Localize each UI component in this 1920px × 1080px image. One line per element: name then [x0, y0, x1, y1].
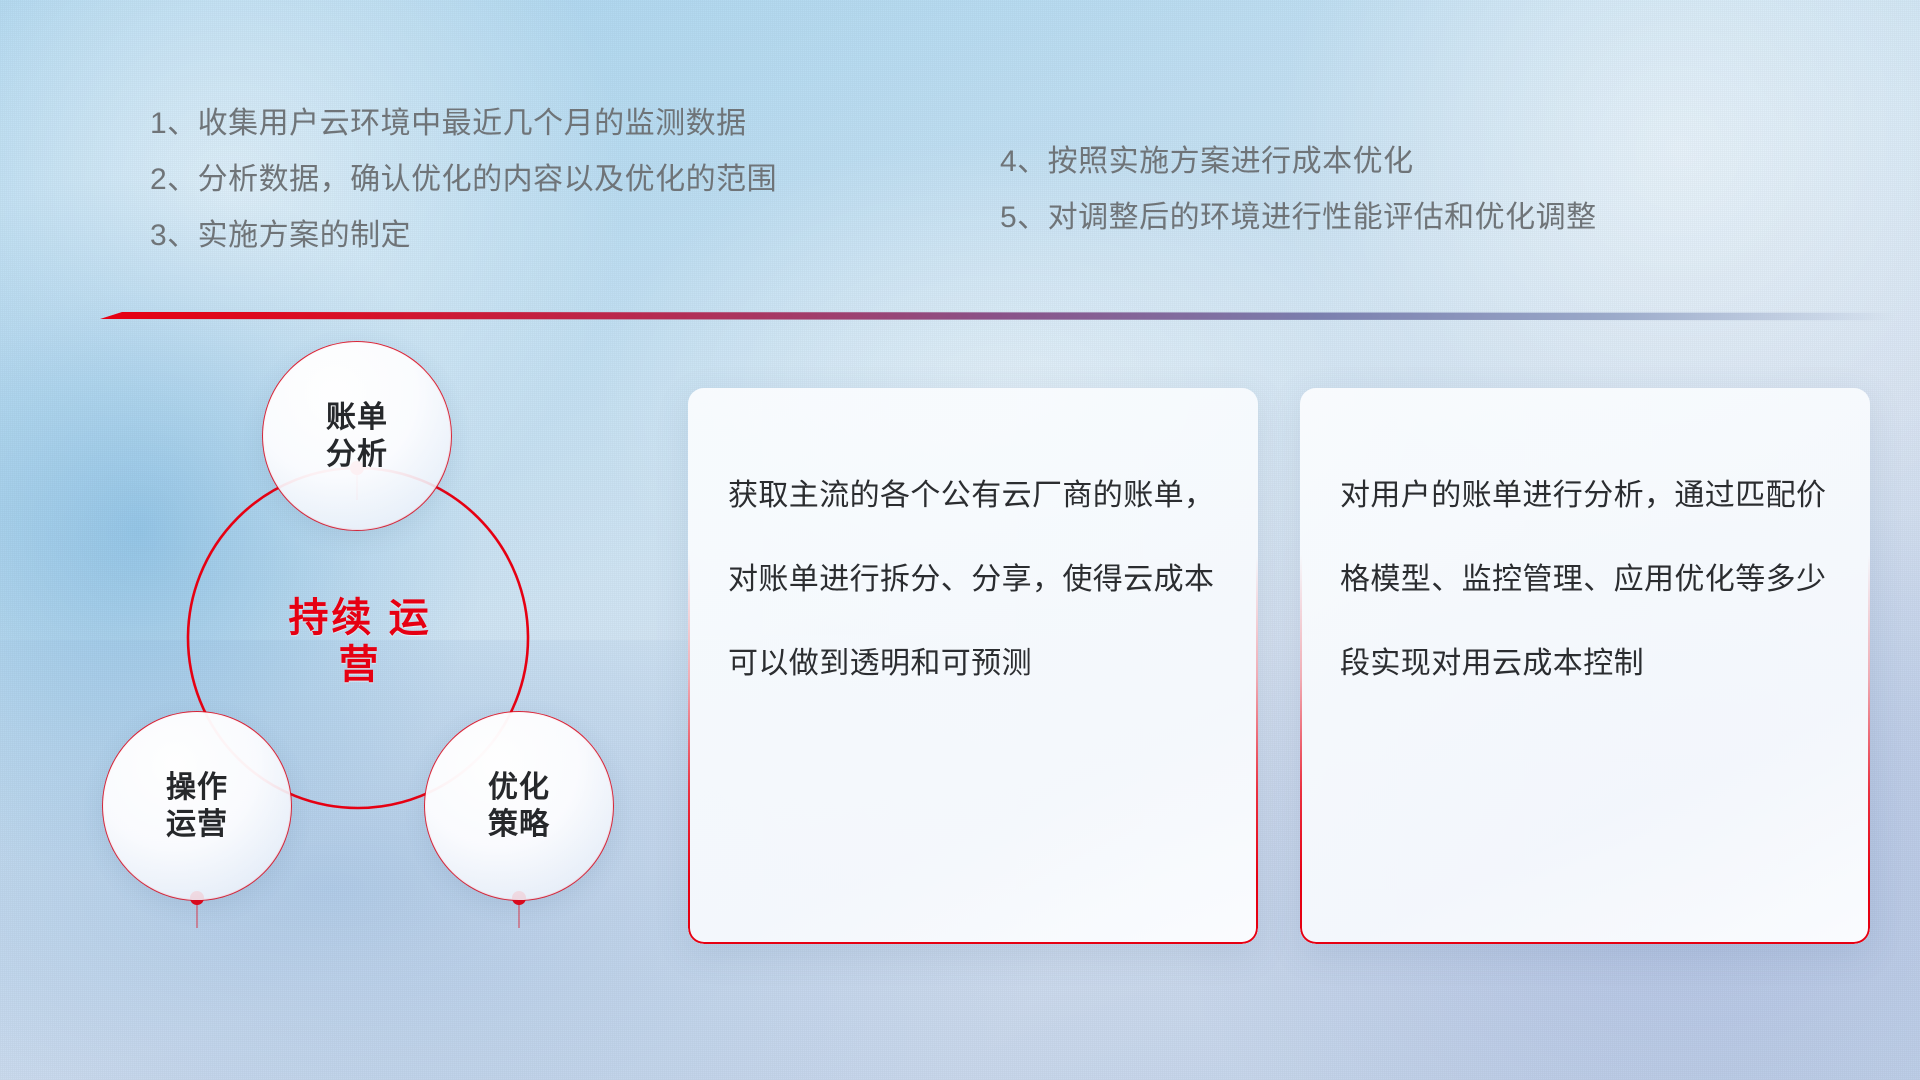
steps-column-left: 1、收集用户云环境中最近几个月的监测数据 2、分析数据，确认优化的内容以及优化的…	[150, 96, 777, 264]
card-2-body-text: 对用户的账单进行分析，通过匹配价格模型、监控管理、应用优化等多少段实现对用云成本…	[1340, 454, 1836, 706]
venn-bubble-billing-analysis[interactable]: 账单 分析	[263, 342, 451, 530]
venn-diagram: 账单 分析 操作 运营 优化 策略 持续 运营	[95, 350, 655, 970]
venn-bubble-right-line2: 策略	[488, 806, 550, 843]
steps-column-right: 4、按照实施方案进行成本优化 5、对调整后的环境进行性能评估和优化调整	[1000, 134, 1597, 246]
steps-section: 1、收集用户云环境中最近几个月的监测数据 2、分析数据，确认优化的内容以及优化的…	[0, 96, 1920, 276]
card-cloud-cost-optimization[interactable]: 对用户的账单进行分析，通过匹配价格模型、监控管理、应用优化等多少段实现对用云成本…	[1300, 388, 1870, 944]
venn-bubble-top-line2: 分析	[326, 436, 388, 473]
step-item-4: 4、按照实施方案进行成本优化	[1000, 134, 1597, 190]
card-multi-cloud-billing-platform[interactable]: 获取主流的各个公有云厂商的账单，对账单进行拆分、分享，使得云成本可以做到透明和可…	[688, 388, 1258, 944]
card-1-body-text: 获取主流的各个公有云厂商的账单，对账单进行拆分、分享，使得云成本可以做到透明和可…	[728, 454, 1224, 706]
venn-bubble-left-line2: 运营	[166, 806, 228, 843]
step-item-5: 5、对调整后的环境进行性能评估和优化调整	[1000, 190, 1597, 246]
venn-center-line1: 持续	[288, 596, 374, 640]
step-item-3: 3、实施方案的制定	[150, 208, 777, 264]
venn-bubble-right-line1: 优化	[488, 769, 550, 806]
step-item-1: 1、收集用户云环境中最近几个月的监测数据	[150, 96, 777, 152]
venn-bubble-operations[interactable]: 操作 运营	[103, 712, 291, 900]
venn-bubble-top-line1: 账单	[326, 399, 388, 436]
venn-bubble-optimization-strategy[interactable]: 优化 策略	[425, 712, 613, 900]
step-item-2: 2、分析数据，确认优化的内容以及优化的范围	[150, 152, 777, 208]
venn-center-label: 持续 运营	[280, 582, 440, 702]
venn-bubble-left-line1: 操作	[166, 769, 228, 806]
